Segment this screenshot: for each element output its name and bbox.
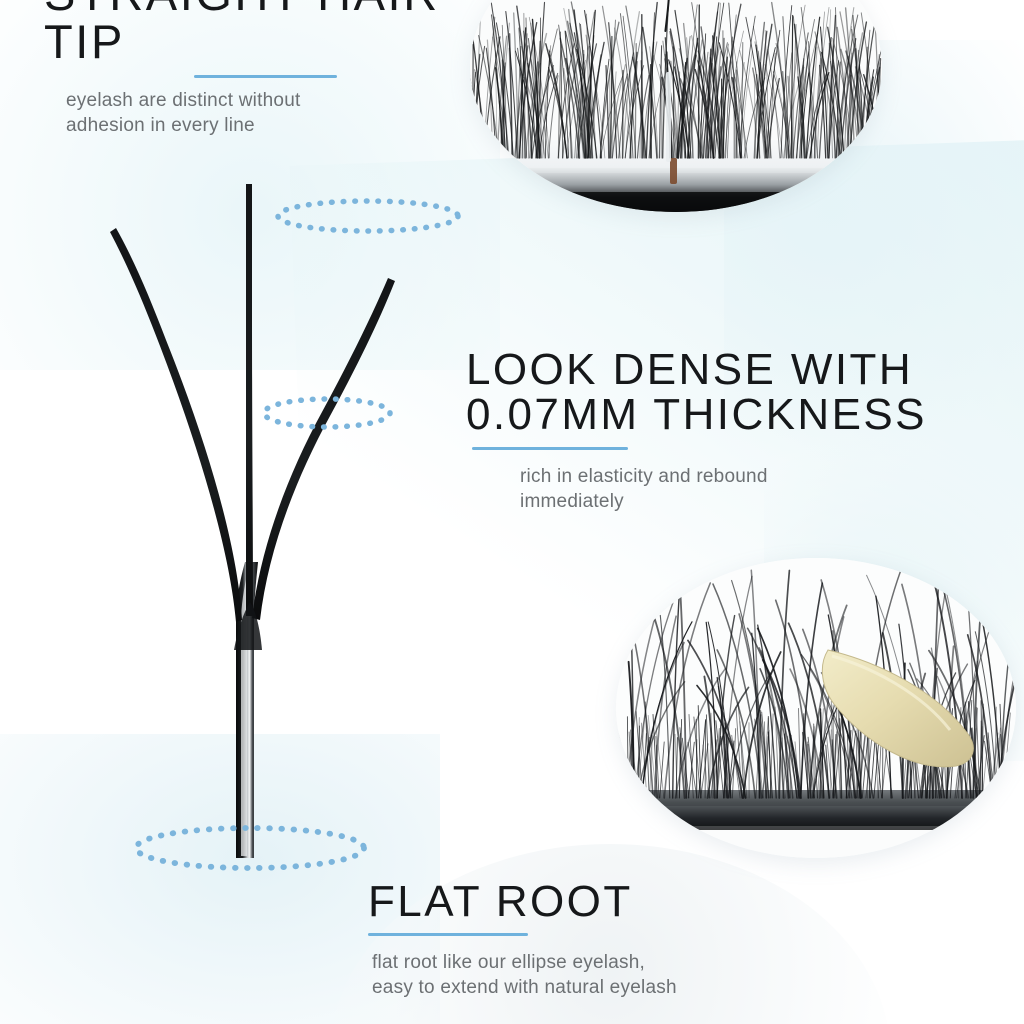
- feature-block-look-dense: LOOK DENSE WITH 0.07MM THICKNESS rich in…: [466, 348, 936, 514]
- infographic-canvas: STRAIGHT HAIR TIP eyelash are distinct w…: [0, 0, 1024, 1024]
- accent-rule-flat-root: [368, 933, 528, 936]
- lash-fiber-illustration: [70, 150, 470, 880]
- feature-subtext-straight-hair-tip: eyelash are distinct without adhesion in…: [66, 88, 514, 138]
- accent-rule-look-dense: [472, 447, 628, 450]
- feature-headline-flat-root: FLAT ROOT: [368, 880, 838, 925]
- accent-rule-straight-hair-tip: [194, 75, 337, 78]
- flat-root-tweezer-photo: [616, 558, 1016, 858]
- feature-headline-look-dense: LOOK DENSE WITH 0.07MM THICKNESS: [466, 348, 936, 438]
- annotation-ring-hair-tip: [272, 194, 464, 238]
- dense-lash-tray-photo: [470, 0, 882, 212]
- feature-block-straight-hair-tip: STRAIGHT HAIR TIP eyelash are distinct w…: [44, 0, 514, 138]
- feature-subtext-flat-root: flat root like our ellipse eyelash, easy…: [372, 950, 838, 1000]
- feature-subtext-look-dense: rich in elasticity and rebound immediate…: [520, 464, 936, 514]
- feature-block-flat-root: FLAT ROOT flat root like our ellipse eye…: [368, 880, 838, 1000]
- feature-headline-straight-hair-tip: STRAIGHT HAIR TIP: [44, 0, 514, 66]
- stray-lash-fiber: [662, 0, 672, 32]
- annotation-ring-shaft: [259, 392, 395, 434]
- annotation-ring-flat-root: [130, 820, 370, 876]
